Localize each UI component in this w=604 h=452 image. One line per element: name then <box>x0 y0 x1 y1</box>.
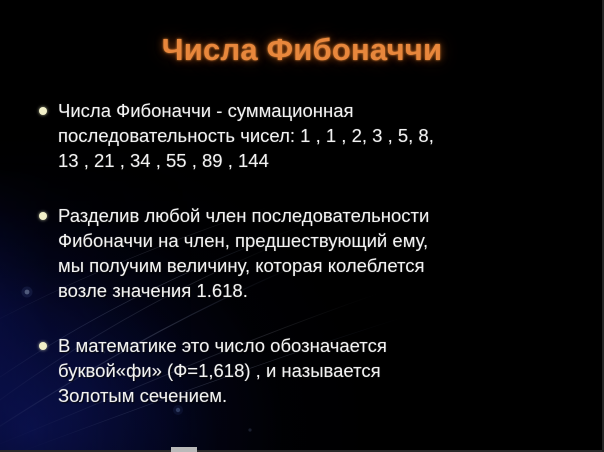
bullet-text: В математике это число обозначается букв… <box>58 333 570 408</box>
bullet-marker-icon <box>39 107 47 115</box>
bullet-text: Разделив любой член последовательности Ф… <box>58 203 570 303</box>
bottom-edge-artifact <box>171 447 197 452</box>
list-item: Числа Фибоначчи - суммационная последова… <box>34 98 570 173</box>
bullet-text: Числа Фибоначчи - суммационная последова… <box>58 98 570 173</box>
bullet-marker-icon <box>39 212 47 220</box>
list-item: Разделив любой член последовательности Ф… <box>34 203 570 303</box>
slide-bullet-list: Числа Фибоначчи - суммационная последова… <box>34 98 570 408</box>
slide-title: Числа Фибоначчи <box>0 32 604 68</box>
presentation-slide: Числа Фибоначчи Числа Фибоначчи - суммац… <box>0 0 604 452</box>
bullet-marker-icon <box>39 342 47 350</box>
list-item: В математике это число обозначается букв… <box>34 333 570 408</box>
